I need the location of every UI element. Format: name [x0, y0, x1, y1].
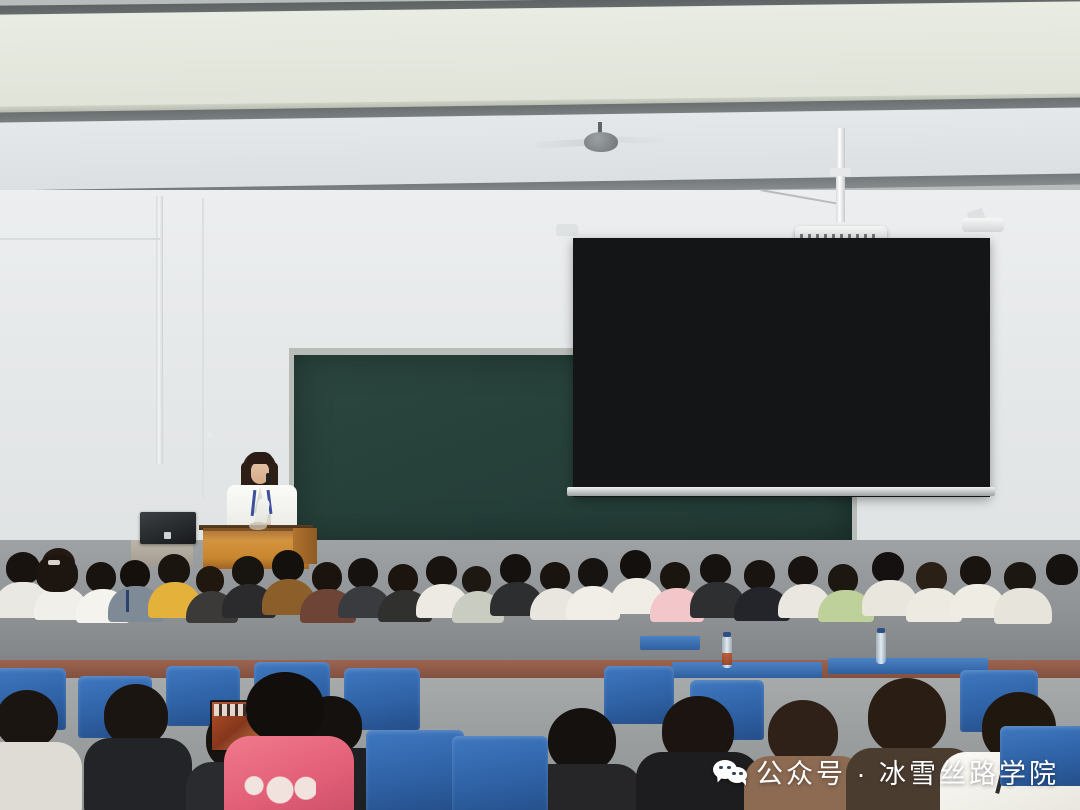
wechat-logo	[713, 758, 747, 786]
auditorium-chair[interactable]	[366, 730, 464, 810]
hoodie-print-text	[244, 768, 316, 810]
audience-head	[272, 550, 304, 581]
audience-head-front	[0, 690, 58, 748]
audience-head	[232, 556, 264, 586]
podium-control-panel	[249, 522, 267, 530]
audience-head	[158, 554, 190, 585]
audience-head	[1046, 554, 1078, 585]
watermark-text: 公众号 · 冰雪丝路学院	[756, 752, 1059, 791]
audience-head	[196, 566, 224, 594]
screen-bottom-weight-bar	[567, 487, 995, 496]
water-bottle	[876, 632, 886, 664]
audience-head	[6, 552, 40, 584]
projector-pole-collar	[830, 168, 851, 176]
screen-roller-bracket-left	[556, 224, 578, 236]
audience-head	[960, 556, 991, 586]
audience-shoulders-front	[84, 738, 192, 810]
audience-head	[744, 560, 775, 590]
audience-head-front	[548, 708, 616, 772]
speaker-microphone	[266, 473, 270, 483]
student-desk	[640, 636, 700, 650]
fan-motor-housing	[584, 132, 618, 152]
audience-head	[388, 564, 418, 593]
audience-head	[312, 562, 342, 592]
student-desk	[672, 662, 822, 678]
audience-head	[426, 556, 457, 586]
bottle-label	[722, 653, 732, 665]
speaker-bangs	[247, 452, 273, 464]
ceiling-fan	[536, 128, 666, 162]
wall-seam-horizontal	[0, 238, 160, 240]
audience-head	[462, 566, 491, 594]
audience-head	[540, 562, 570, 591]
ceiling-panel	[0, 1, 1080, 110]
bottle-cap	[877, 628, 885, 633]
audience-head	[348, 558, 378, 588]
audience-head	[872, 552, 904, 583]
wall-seam-vertical	[202, 198, 204, 498]
auditorium-chair[interactable]	[452, 736, 548, 810]
lecture-hall-photo: 网络信息安全 1.校园贷问题 2.网络诈骗（刷单） 3.电信诈骗	[0, 0, 1080, 810]
audience-head-front	[104, 684, 168, 746]
screen-roller-bracket-right	[962, 218, 1004, 232]
projector-mount-pole	[836, 128, 845, 226]
audience-lanyard	[126, 590, 129, 612]
audience-head	[700, 554, 731, 584]
bottle-cap	[723, 632, 731, 637]
audience-head-front	[246, 672, 324, 742]
projection-screen: 网络信息安全 1.校园贷问题 2.网络诈骗（刷单） 3.电信诈骗	[573, 238, 990, 497]
audience-head	[788, 556, 818, 585]
audience-shoulders-front	[0, 742, 82, 810]
audience-head	[578, 558, 608, 588]
blackboard-chalk-smudge	[205, 430, 215, 440]
laptop-logo	[164, 532, 171, 539]
auditorium-chair[interactable]	[604, 666, 674, 724]
audience-head	[120, 560, 150, 589]
audience-head	[86, 562, 116, 592]
watermark: 公众号 · 冰雪丝路学院	[713, 752, 1059, 791]
audience-head-front	[868, 678, 946, 754]
hair-clip	[48, 560, 60, 565]
audience-shoulders	[994, 588, 1052, 624]
audience-head	[660, 562, 690, 591]
audience-head	[620, 550, 651, 580]
wall-conduit	[156, 196, 163, 464]
audience-head	[500, 554, 531, 584]
